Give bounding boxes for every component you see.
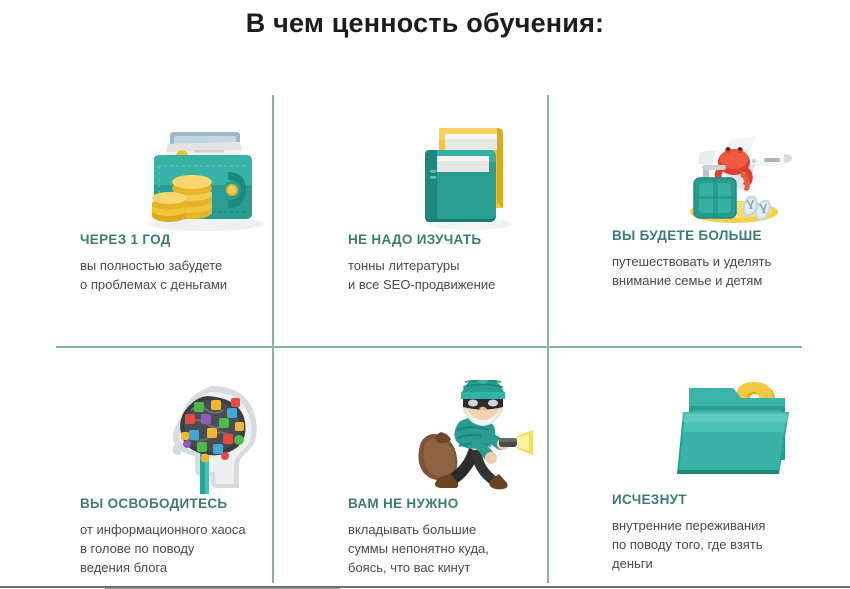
benefit-line: суммы непонятно куда, [348, 539, 602, 558]
benefit-title: НЕ НАДО ИЗУЧАТЬ [348, 232, 602, 247]
benefit-line: боясь, что вас кинут [348, 558, 602, 577]
benefit-line: внимание семье и детям [612, 271, 850, 290]
benefit-card-1: ЧЕРЕЗ 1 ГОД вы полностью забудете о проб… [72, 112, 334, 294]
benefit-line: тонны литературы [348, 256, 602, 275]
benefit-card-3: ВЫ БУДЕТЕ БОЛЬШЕ путешествовать и уделят… [606, 108, 850, 290]
benefit-title: ИСЧЕЗНУТ [612, 492, 850, 507]
benefit-body: от информационного хаоса в голове по пов… [80, 520, 334, 577]
benefit-line: по поводу того, где взять [612, 535, 850, 554]
benefit-line: внутренние переживания [612, 516, 850, 535]
page-title: В чем ценность обучения: [0, 8, 850, 39]
travel-suitcase-airplane-icon [606, 108, 850, 228]
benefit-title: ВЫ БУДЕТЕ БОЛЬШЕ [612, 228, 850, 243]
benefit-card-5: ВАМ НЕ НУЖНО вкладывать большие суммы не… [340, 376, 602, 577]
benefit-line: в голове по поводу [80, 539, 334, 558]
folder-question-mark-icon [606, 372, 850, 492]
benefit-line: от информационного хаоса [80, 520, 334, 539]
benefit-line: вкладывать большие [348, 520, 602, 539]
benefit-card-2: НЕ НАДО ИЗУЧАТЬ тонны литературы и все S… [340, 112, 602, 294]
benefit-line: и все SEO-продвижение [348, 275, 602, 294]
benefit-line: путешествовать и уделять [612, 252, 850, 271]
benefit-body: вкладывать большие суммы непонятно куда,… [348, 520, 602, 577]
benefit-card-6: ИСЧЕЗНУТ внутренние переживания по повод… [606, 372, 850, 573]
horizontal-divider [56, 346, 802, 348]
benefit-line: о проблемах с деньгами [80, 275, 334, 294]
benefit-line: вы полностью забудете [80, 256, 334, 275]
thief-with-sack-icon [340, 376, 602, 496]
benefit-line: ведения блога [80, 558, 334, 577]
benefit-card-4: ВЫ ОСВОБОДИТЕСЬ от информационного хаоса… [72, 376, 334, 577]
wallet-with-coins-icon [72, 112, 334, 232]
head-brain-icon [72, 376, 334, 496]
benefit-body: тонны литературы и все SEO-продвижение [348, 256, 602, 294]
stacked-books-icon [340, 112, 602, 232]
benefit-body: вы полностью забудете о проблемах с день… [80, 256, 334, 294]
benefit-title: ВЫ ОСВОБОДИТЕСЬ [80, 496, 334, 511]
benefit-body: внутренние переживания по поводу того, г… [612, 516, 850, 573]
benefit-title: ЧЕРЕЗ 1 ГОД [80, 232, 334, 247]
benefit-line: деньги [612, 554, 850, 573]
benefit-body: путешествовать и уделять внимание семье … [612, 252, 850, 290]
value-proposition-section: В чем ценность обучения: [0, 0, 850, 589]
benefit-title: ВАМ НЕ НУЖНО [348, 496, 602, 511]
